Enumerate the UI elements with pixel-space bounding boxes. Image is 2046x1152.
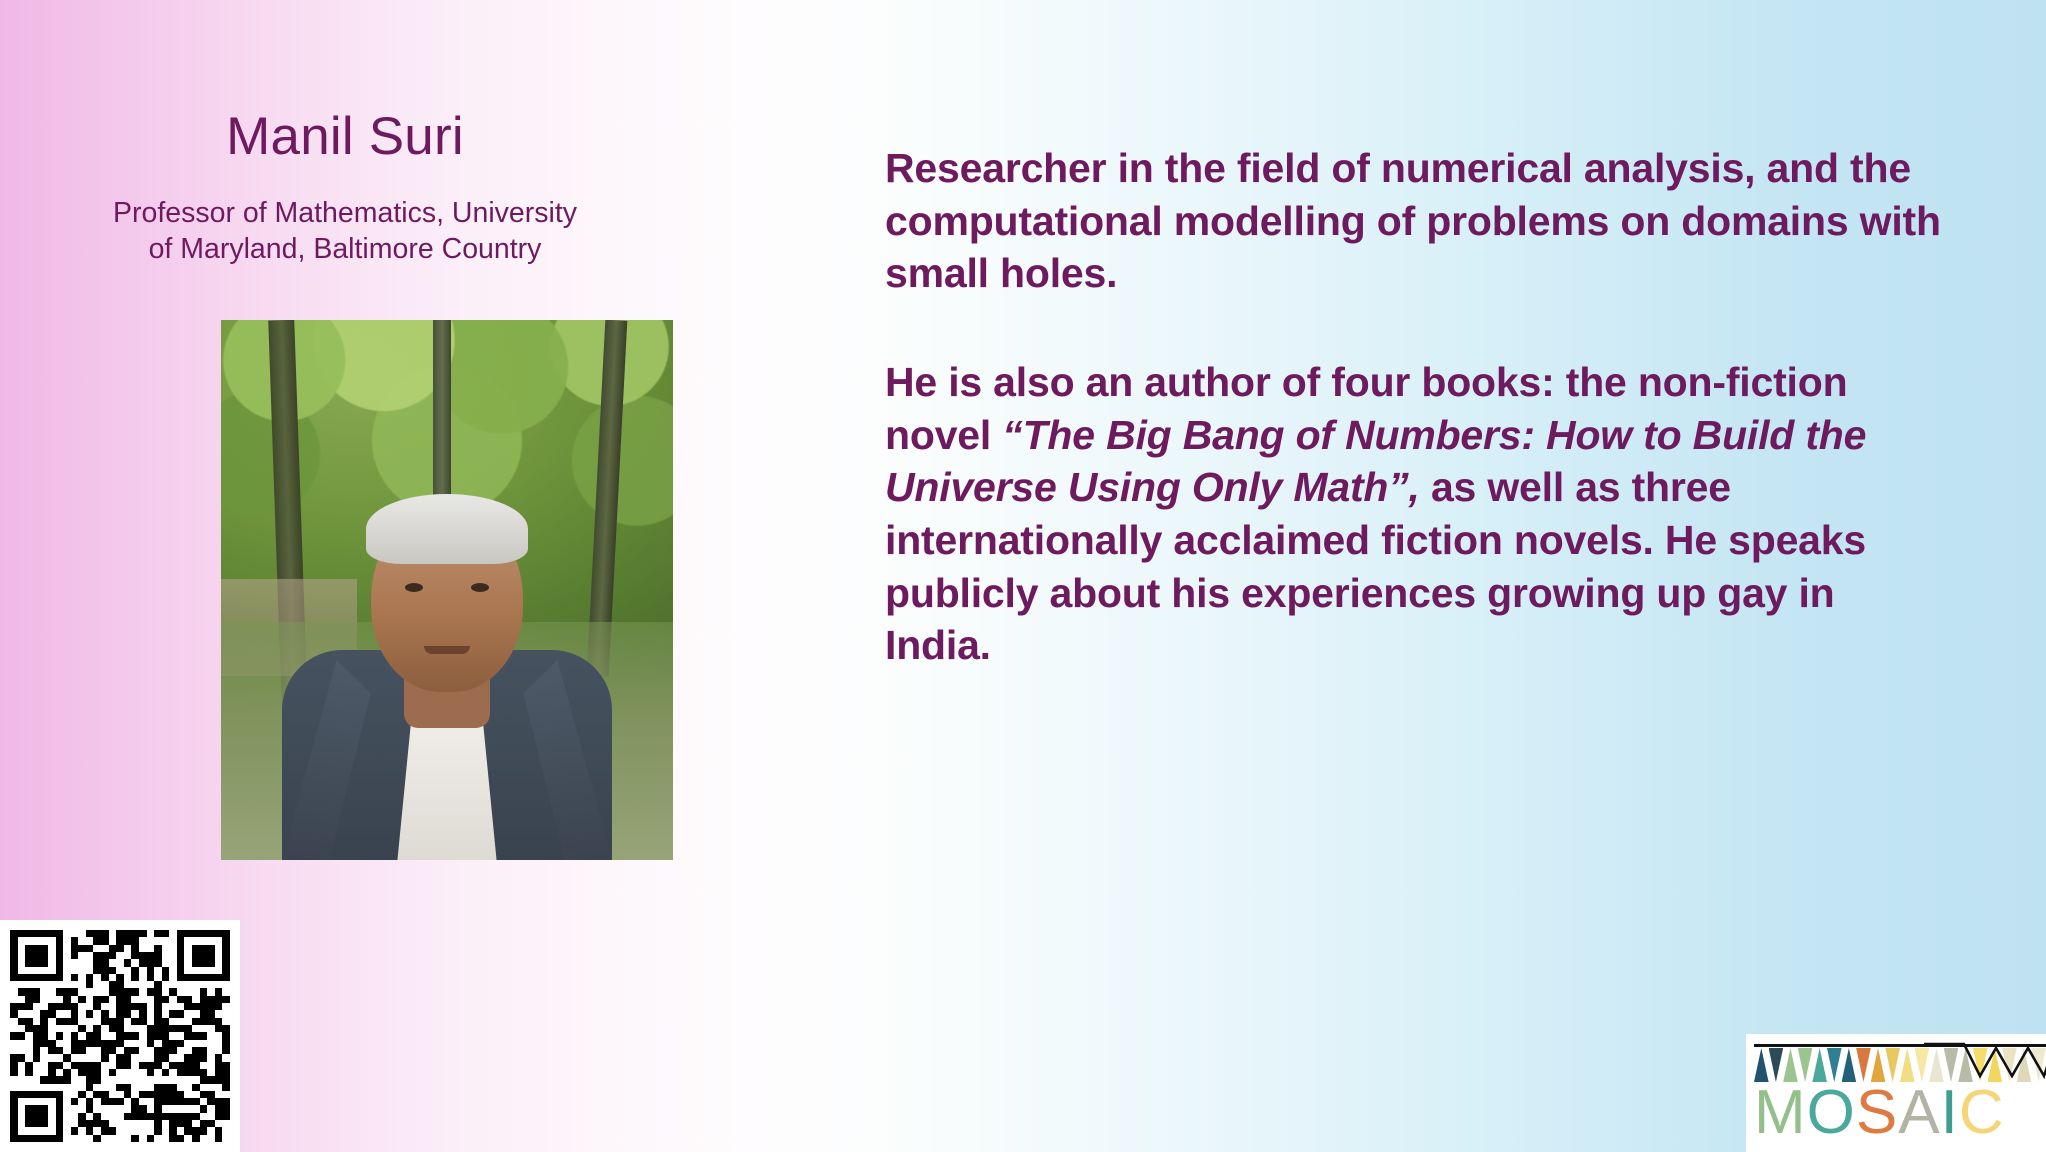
mosaic-logo: MOSAIC bbox=[1746, 1034, 2046, 1152]
bio-paragraph-1: Researcher in the field of numerical ana… bbox=[885, 142, 1945, 300]
profile-role-line-1: Professor of Mathematics, University bbox=[95, 195, 595, 231]
qr-code[interactable] bbox=[0, 920, 240, 1152]
logo-triangle bbox=[1812, 1048, 1827, 1082]
logo-triangle bbox=[1842, 1048, 1857, 1082]
logo-letter: M bbox=[1754, 1078, 1807, 1147]
slide-canvas: Manil Suri Professor of Mathematics, Uni… bbox=[0, 0, 2046, 1152]
profile-role-line-2: of Maryland, Baltimore Country bbox=[95, 231, 595, 267]
qr-code-modules bbox=[10, 930, 230, 1142]
page-title: Manil Suri bbox=[0, 108, 690, 166]
logo-letter: O bbox=[1807, 1078, 1856, 1147]
logo-letter: S bbox=[1856, 1078, 1898, 1147]
logo-zigzag-icon bbox=[1924, 1042, 2046, 1082]
logo-letter: I bbox=[1941, 1078, 1959, 1147]
photo-mouth bbox=[424, 646, 470, 654]
logo-triangle bbox=[1856, 1048, 1871, 1082]
portrait-photo bbox=[221, 320, 673, 860]
photo-hair bbox=[366, 494, 528, 564]
logo-letter: C bbox=[1959, 1078, 2005, 1147]
logo-wordmark: MOSAIC bbox=[1754, 1082, 2046, 1144]
logo-triangle bbox=[1885, 1048, 1900, 1082]
logo-triangle bbox=[1769, 1048, 1784, 1082]
logo-triangle bbox=[1900, 1048, 1915, 1082]
logo-triangle bbox=[1871, 1048, 1886, 1082]
biography-text: Researcher in the field of numerical ana… bbox=[885, 142, 1945, 672]
photo-eye bbox=[405, 583, 423, 592]
logo-triangle bbox=[1754, 1048, 1769, 1082]
logo-triangle bbox=[1827, 1048, 1842, 1082]
logo-letter: A bbox=[1898, 1078, 1940, 1147]
bio-paragraph-2: He is also an author of four books: the … bbox=[885, 356, 1945, 672]
photo-eye bbox=[471, 583, 489, 592]
logo-triangle bbox=[1798, 1048, 1813, 1082]
profile-role: Professor of Mathematics, University of … bbox=[95, 195, 595, 268]
logo-triangle bbox=[1783, 1048, 1798, 1082]
paragraph-spacer bbox=[885, 300, 1945, 356]
